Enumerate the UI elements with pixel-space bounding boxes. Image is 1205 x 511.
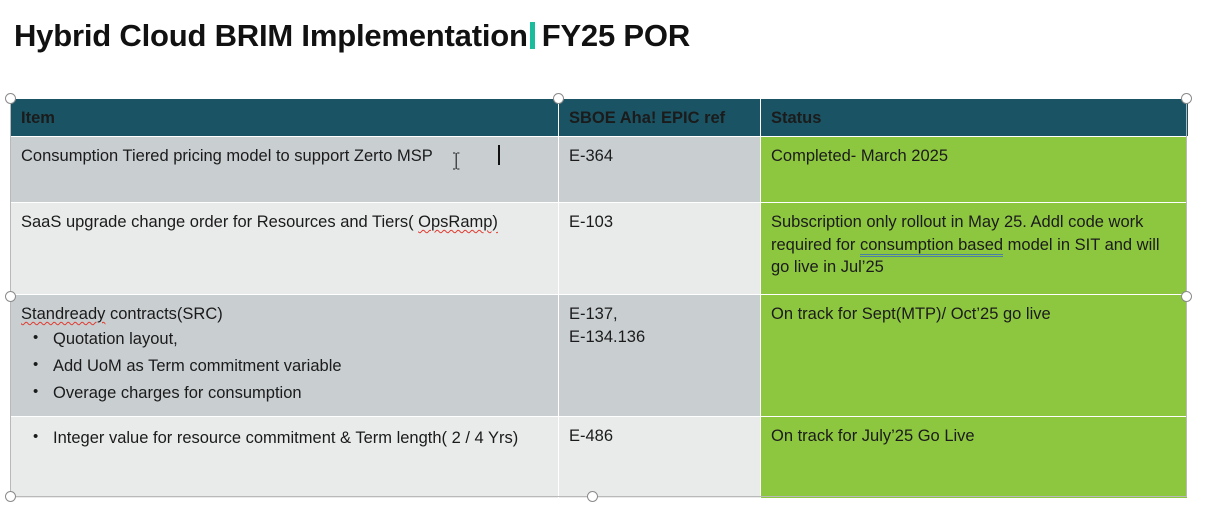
cell-status[interactable]: On track for Sept(MTP)/ Oct’25 go live [761, 294, 1188, 416]
cell-item[interactable]: SaaS upgrade change order for Resources … [11, 202, 559, 294]
cell-epic-ref[interactable]: E-103 [559, 202, 761, 294]
epic-ref-line-1: E-137, [569, 303, 750, 326]
cell-epic-ref[interactable]: E-364 [559, 136, 761, 202]
item-bullet-list: Quotation layout, Add UoM as Term commit… [21, 328, 548, 405]
resize-handle-top-right[interactable] [1181, 93, 1192, 104]
list-item: Quotation layout, [21, 328, 548, 351]
title-separator-bar [530, 22, 535, 49]
table-row[interactable]: Consumption Tiered pricing model to supp… [11, 136, 1188, 202]
epic-ref-text: E-103 [569, 213, 613, 231]
table-header: Item SBOE Aha! EPIC ref Status [11, 99, 1188, 137]
cell-item[interactable]: Standready contracts(SRC) Quotation layo… [11, 294, 559, 416]
epic-ref-line-2: E-134.136 [569, 326, 750, 349]
column-header-status[interactable]: Status [761, 99, 1188, 137]
resize-handle-bottom-left[interactable] [5, 491, 16, 502]
cell-status[interactable]: Completed- March 2025 [761, 136, 1188, 202]
table-row[interactable]: Integer value for resource commitment & … [11, 416, 1188, 498]
epic-ref-text: E-486 [569, 427, 613, 445]
list-item: Overage charges for consumption [21, 382, 548, 405]
item-text-misspelled: OpsRamp) [418, 213, 498, 231]
item-bullet-list: Integer value for resource commitment & … [21, 427, 548, 450]
status-text: Completed- March 2025 [771, 147, 948, 165]
status-table-container[interactable]: Item SBOE Aha! EPIC ref Status Consumpti… [10, 98, 1187, 497]
cell-status[interactable]: On track for July’25 Go Live [761, 416, 1188, 498]
cell-item[interactable]: Consumption Tiered pricing model to supp… [11, 136, 559, 202]
cell-item[interactable]: Integer value for resource commitment & … [11, 416, 559, 498]
resize-handle-bottom-middle[interactable] [587, 491, 598, 502]
item-text-lead: SaaS upgrade change order for Resources … [21, 213, 414, 231]
column-header-item[interactable]: Item [11, 99, 559, 137]
item-text-misspelled: Standready [21, 305, 105, 323]
item-text-lead-rest: contracts(SRC) [105, 305, 222, 323]
cell-epic-ref[interactable]: E-137, E-134.136 [559, 294, 761, 416]
resize-handle-middle-left[interactable] [5, 291, 16, 302]
i-beam-cursor-icon [452, 152, 461, 170]
selection-edge-bottom [10, 496, 1187, 497]
item-text: Consumption Tiered pricing model to supp… [21, 147, 433, 165]
item-lead-line: Standready contracts(SRC) [21, 303, 548, 326]
table-header-row: Item SBOE Aha! EPIC ref Status [11, 99, 1188, 137]
resize-handle-top-left[interactable] [5, 93, 16, 104]
table-row[interactable]: SaaS upgrade change order for Resources … [11, 202, 1188, 294]
epic-ref-text: E-364 [569, 147, 613, 165]
resize-handle-top-middle[interactable] [553, 93, 564, 104]
status-text: On track for Sept(MTP)/ Oct’25 go live [771, 305, 1051, 323]
page-title-suffix: FY25 POR [542, 18, 690, 54]
status-text: On track for July’25 Go Live [771, 427, 975, 445]
column-header-epic-ref[interactable]: SBOE Aha! EPIC ref [559, 99, 761, 137]
table-body: Consumption Tiered pricing model to supp… [11, 136, 1188, 498]
cell-epic-ref[interactable]: E-486 [559, 416, 761, 498]
list-item: Integer value for resource commitment & … [21, 427, 548, 450]
page-title-main: Hybrid Cloud BRIM Implementation [14, 18, 528, 54]
text-insertion-caret [498, 145, 500, 165]
list-item: Add UoM as Term commitment variable [21, 355, 548, 378]
status-text-grammar-flag: consumption based [860, 236, 1003, 257]
cell-status[interactable]: Subscription only rollout in May 25. Add… [761, 202, 1188, 294]
page-title: Hybrid Cloud BRIM Implementation FY25 PO… [14, 18, 690, 54]
table-row[interactable]: Standready contracts(SRC) Quotation layo… [11, 294, 1188, 416]
resize-handle-middle-right[interactable] [1181, 291, 1192, 302]
status-table[interactable]: Item SBOE Aha! EPIC ref Status Consumpti… [10, 98, 1188, 499]
